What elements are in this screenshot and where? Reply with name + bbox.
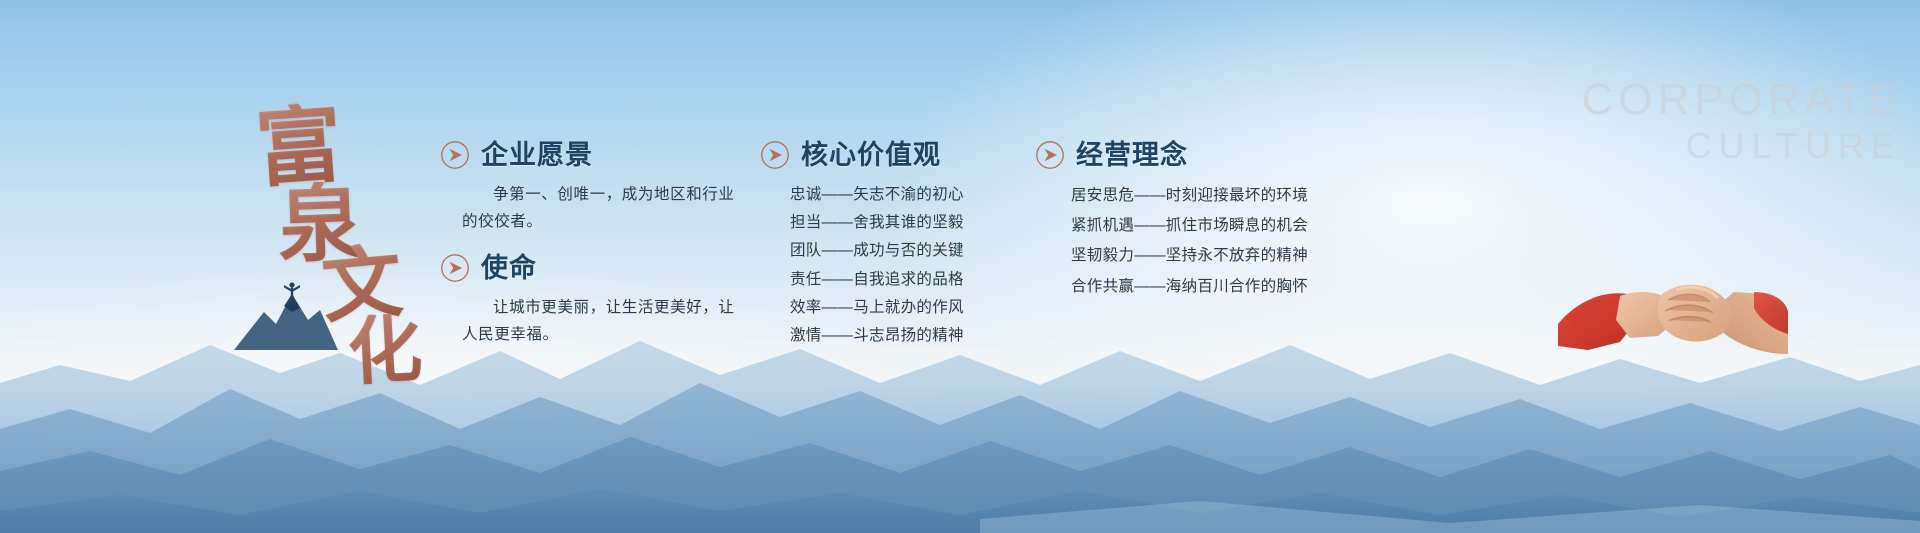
block-business-philosophy: 经营理念 居安思危——时刻迎接最坏的环境 紧抓机遇——抓住市场瞬息的机会 坚韧毅… [1035,140,1345,302]
list-item: 团队——成功与否的关键 [790,237,1030,265]
list-item: 担当——舍我其谁的坚毅 [790,209,1030,237]
list-item: 责任——自我追求的品格 [790,266,1030,294]
circled-arrow-icon [440,253,470,283]
list-item: 居安思危——时刻迎接最坏的环境 [1071,181,1345,211]
list-item: 激情——斗志昂扬的精神 [790,322,1030,350]
watermark-text: CORPORATE CULTURE [1582,78,1902,164]
watermark-line-1: CORPORATE [1582,78,1902,122]
vision-title: 企业愿景 [481,142,593,169]
mission-text: 让城市更美丽，让生活更美好，让人民更幸福。 [440,294,740,348]
clasped-hands-photo [1558,258,1788,368]
person-on-mountain-peak-icon [224,272,344,352]
corporate-culture-banner: CORPORATE CULTURE [0,0,1920,533]
column-right: 经营理念 居安思危——时刻迎接最坏的环境 紧抓机遇——抓住市场瞬息的机会 坚韧毅… [1035,140,1345,320]
vision-heading: 企业愿景 [440,140,740,170]
business-philosophy-title: 经营理念 [1076,142,1188,169]
circled-arrow-icon [440,140,470,170]
calligraphy-char-4: 化 [346,312,424,390]
block-vision: 企业愿景 争第一、创唯一，成为地区和行业的佼佼者。 [440,140,740,235]
business-philosophy-heading: 经营理念 [1035,140,1345,170]
block-mission: 使命 让城市更美丽，让生活更美好，让人民更幸福。 [440,253,740,348]
column-left: 企业愿景 争第一、创唯一，成为地区和行业的佼佼者。 使命 让城市更美丽，让生活更… [440,140,740,367]
circled-arrow-icon [760,140,790,170]
core-values-heading: 核心价值观 [760,140,1030,170]
circled-arrow-icon [1035,140,1065,170]
list-item: 坚韧毅力——坚持永不放弃的精神 [1071,241,1345,271]
block-core-values: 核心价值观 忠诚——矢志不渝的初心 担当——舍我其谁的坚毅 团队——成功与否的关… [760,140,1030,350]
list-item: 忠诚——矢志不渝的初心 [790,181,1030,209]
list-item: 合作共赢——海纳百川合作的胸怀 [1071,272,1345,302]
business-philosophy-list: 居安思危——时刻迎接最坏的环境 紧抓机遇——抓住市场瞬息的机会 坚韧毅力——坚持… [1035,181,1345,302]
watermark-line-2: CULTURE [1582,128,1902,164]
core-values-list: 忠诚——矢志不渝的初心 担当——舍我其谁的坚毅 团队——成功与否的关键 责任——… [760,181,1030,350]
column-middle: 核心价值观 忠诚——矢志不渝的初心 担当——舍我其谁的坚毅 团队——成功与否的关… [760,140,1030,368]
mission-heading: 使命 [440,253,740,283]
vision-text: 争第一、创唯一，成为地区和行业的佼佼者。 [440,181,740,235]
list-item: 紧抓机遇——抓住市场瞬息的机会 [1071,211,1345,241]
mission-title: 使命 [481,255,537,282]
list-item: 效率——马上就办的作风 [790,294,1030,322]
core-values-title: 核心价值观 [801,142,941,169]
